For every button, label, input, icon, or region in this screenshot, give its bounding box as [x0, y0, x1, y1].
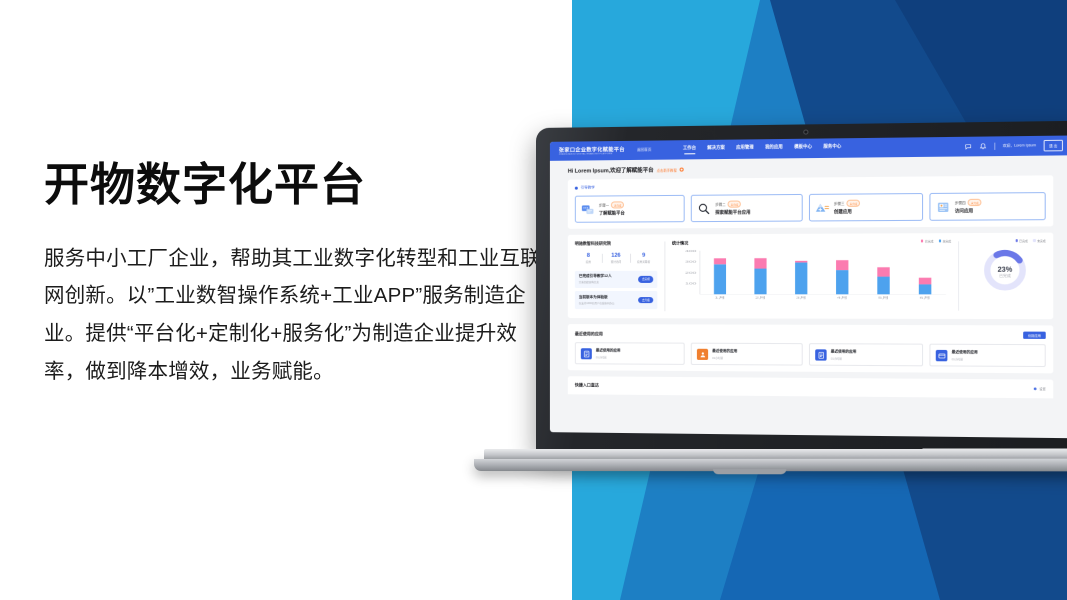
guide-step-text: 步骤二 未完成 探索赋能平台应用: [715, 200, 750, 216]
nav-divider: [995, 143, 996, 150]
guide-section-label: 引导教学: [581, 185, 595, 190]
app-card[interactable]: 最近使用的应用 01小时前: [691, 343, 803, 366]
svg-text:6月: 6月: [919, 296, 930, 299]
logo-title: 张家口企业数字化赋能平台: [559, 146, 625, 154]
guide-step-card[interactable]: 步骤一 未完成 了解赋能平台: [575, 195, 685, 223]
app-card[interactable]: 最近使用的应用 01小时前: [575, 343, 685, 366]
guide-step-name: 创建应用: [834, 209, 860, 215]
laptop-bezel: 张家口企业数字化赋能平台 ZHANGJIAKOU DIGITAL ENABLIN…: [550, 135, 1067, 438]
guide-step-name: 探索赋能平台应用: [715, 210, 750, 216]
app-card[interactable]: 最近使用的应用 01小时前: [929, 344, 1045, 367]
doc-blue-icon: [815, 349, 826, 360]
legend-swatch: [921, 240, 923, 242]
nav-item-app-management[interactable]: 应用管理: [736, 145, 754, 154]
guide-step-badge: 未完成: [847, 200, 861, 207]
legend-entry: 未完成: [939, 239, 951, 243]
dashboard-content: Hi Lorem Ipsum,欢迎了解赋能平台 点击新手教程 引导教学: [550, 155, 1067, 438]
bullet-icon: [575, 186, 578, 189]
legend-label: 已完成: [1019, 238, 1028, 242]
notice-text: 已完成引导教学12人 完善组织架构信息: [579, 274, 639, 285]
legend-entry: 已完成: [921, 239, 933, 243]
stat-value: 9: [630, 252, 657, 258]
stats-and-charts-row: 明驰数智科技研究院 8 应用 126 累计访问: [568, 232, 1053, 319]
chart-divider: [957, 241, 958, 311]
quick-entry-actions: 设置: [1033, 387, 1046, 391]
main-nav: 工作台 解决方案 应用管理 我的应用 模板中心 服务中心: [683, 144, 841, 154]
app-card-subtitle: 01小时前: [831, 356, 857, 360]
greeting-row: Hi Lorem Ipsum,欢迎了解赋能平台 点击新手教程: [568, 162, 1053, 175]
legend-label: 已完成: [925, 239, 934, 243]
guide-step-badge: 未完成: [728, 200, 742, 207]
guide-step-top: 步骤四 未完成: [955, 199, 982, 207]
nav-item-service-center[interactable]: 服务中心: [823, 144, 841, 153]
app-card-title: 最近使用的应用: [596, 348, 621, 353]
guide-step-text: 步骤四 未完成 访问应用: [955, 199, 982, 215]
guide-step-top: 步骤二 未完成: [715, 200, 750, 208]
guide-step-row: 步骤一 未完成 了解赋能平台: [575, 192, 1046, 223]
stat-value: 126: [602, 252, 629, 258]
notice-action-button[interactable]: 去完成: [639, 276, 654, 283]
guide-step-badge: 未完成: [611, 201, 624, 208]
guide-step-card[interactable]: 步骤二 未完成 探索赋能平台应用: [691, 194, 803, 222]
legend-swatch: [1033, 239, 1035, 241]
doc-blue-icon: [581, 348, 592, 359]
app-card-title: 最近使用的应用: [712, 349, 737, 354]
svg-text:已完成: 已完成: [999, 272, 1011, 277]
magnifier-icon: [697, 201, 711, 215]
guide-step-text: 步骤一 未完成 了解赋能平台: [599, 201, 625, 216]
guide-step-badge: 未完成: [968, 199, 982, 207]
recent-apps-panel: 最近使用的应用 创建应用 最近使: [568, 324, 1053, 374]
greeting-title: Hi Lorem Ipsum,欢迎了解赋能平台: [568, 166, 654, 175]
stat-value: 8: [575, 252, 602, 258]
guide-step-name: 访问应用: [955, 208, 982, 214]
bar-chart-legend: 已完成 未完成: [921, 239, 951, 243]
guide-panel-header: 引导教学: [575, 182, 1046, 191]
svg-text:200: 200: [685, 271, 697, 274]
guide-step-number: 步骤三: [834, 201, 845, 206]
legend-swatch: [939, 240, 941, 242]
message-icon[interactable]: [965, 143, 972, 150]
app-card[interactable]: 最近使用的应用 01小时前: [809, 344, 923, 367]
logo-subtitle: ZHANGJIAKOU DIGITAL ENABLING PLATFORM: [559, 153, 625, 156]
stat-item: 126 累计访问: [602, 252, 629, 263]
person-orange-icon: [697, 349, 708, 360]
legend-entry: 未完成: [1033, 238, 1046, 242]
notice-subtitle: 完善组织架构信息: [579, 280, 639, 284]
notice-row: 已完成引导教学12人 完善组织架构信息 去完成: [575, 270, 657, 288]
org-panel: 明驰数智科技研究院 8 应用 126 累计访问: [568, 234, 665, 319]
nav-item-workbench[interactable]: 工作台: [683, 145, 696, 154]
stat-label: 应用: [575, 259, 602, 263]
add-layers-icon: [815, 200, 830, 214]
create-app-button[interactable]: 创建应用: [1023, 331, 1046, 339]
card-blue-icon: [936, 350, 948, 361]
nav-right-group: 欢迎，Lorem Ipsum 退 出: [965, 140, 1063, 152]
guide-step-name: 了解赋能平台: [599, 211, 625, 217]
laptop-base-front: [474, 459, 1067, 472]
quick-entry-panel: 快捷入口直达 设置: [568, 376, 1053, 398]
app-card-title: 最近使用的应用: [952, 350, 978, 355]
nav-item-solutions[interactable]: 解决方案: [707, 145, 725, 154]
svg-text:100: 100: [685, 282, 697, 285]
stat-item: 9 应用关联者: [630, 252, 657, 263]
svg-text:400: 400: [685, 249, 697, 252]
donut-chart-box: 已完成 未完成 23%已完成: [964, 238, 1045, 313]
app-card-text: 最近使用的应用 01小时前: [831, 350, 857, 361]
org-stats: 8 应用 126 累计访问 9: [575, 252, 657, 263]
legend-entry: 已完成: [1015, 238, 1027, 242]
back-home-link[interactable]: 返回首页: [637, 148, 652, 153]
stat-label: 应用关联者: [630, 259, 657, 263]
bar-chart-title: 统计情况: [672, 240, 688, 246]
stat-item: 8 应用: [575, 252, 602, 263]
guide-step-top: 步骤一 未完成: [599, 201, 625, 208]
legend-label: 未完成: [943, 239, 952, 243]
document-card-icon: [936, 200, 951, 215]
svg-text:3月: 3月: [795, 296, 806, 299]
guide-step-card[interactable]: 步骤三 未完成 创建应用: [809, 193, 923, 221]
chat-screens-icon: [581, 202, 595, 216]
app-card-text: 最近使用的应用 01小时前: [712, 349, 737, 360]
legend-swatch: [1015, 239, 1017, 241]
gear-icon[interactable]: [1033, 387, 1037, 391]
laptop-mockup: 张家口企业数字化赋能平台 ZHANGJIAKOU DIGITAL ENABLIN…: [466, 128, 1067, 488]
app-card-text: 最近使用的应用 01小时前: [596, 348, 621, 359]
app-card-subtitle: 01小时前: [596, 355, 621, 359]
app-card-subtitle: 01小时前: [712, 355, 737, 359]
notice-action-button[interactable]: 去升级: [639, 297, 654, 304]
logout-button[interactable]: 退 出: [1043, 140, 1063, 151]
bar-chart-header: 统计情况 已完成 未完成: [672, 239, 951, 246]
svg-text:23%: 23%: [998, 266, 1013, 273]
notice-title: 已完成引导教学12人: [579, 274, 639, 279]
svg-text:1月: 1月: [714, 296, 725, 299]
svg-text:4月: 4月: [836, 296, 847, 299]
org-title: 明驰数智科技研究院: [575, 240, 657, 246]
close-icon[interactable]: [680, 168, 684, 172]
svg-text:2月: 2月: [755, 296, 766, 299]
guide-step-text: 步骤三 未完成 创建应用: [834, 200, 860, 216]
app-card-subtitle: 01小时前: [952, 357, 978, 361]
bar-chart-plot: 1002003004001月2月3月4月5月6月: [672, 247, 951, 301]
notice-title: 当前版本为体验版: [579, 295, 639, 300]
legend-label: 未完成: [1037, 238, 1046, 242]
notice-row: 当前版本为体验版 仅支持1000名用户在线协同办公 去升级: [575, 291, 657, 309]
bar-chart-box: 统计情况 已完成 未完成: [672, 239, 951, 313]
laptop-base: [466, 449, 1067, 475]
charts-panel: 统计情况 已完成 未完成: [665, 232, 1053, 319]
guide-step-number: 步骤一: [599, 202, 609, 207]
laptop-lid: 张家口企业数字化赋能平台 ZHANGJIAKOU DIGITAL ENABLIN…: [536, 121, 1067, 461]
svg-text:5月: 5月: [878, 296, 889, 299]
site-logo[interactable]: 张家口企业数字化赋能平台 ZHANGJIAKOU DIGITAL ENABLIN…: [559, 146, 625, 156]
nav-item-my-apps[interactable]: 我的应用: [765, 144, 783, 153]
app-card-title: 最近使用的应用: [831, 350, 857, 355]
settings-label: 设置: [1039, 387, 1045, 391]
bell-icon[interactable]: [980, 143, 987, 150]
donut-chart-plot: 23%已完成: [980, 246, 1029, 294]
guide-step-number: 步骤四: [955, 200, 966, 205]
guide-step-card[interactable]: 步骤四 未完成 访问应用: [929, 192, 1045, 221]
notice-text: 当前版本为体验版 仅支持1000名用户在线协同办公: [579, 295, 639, 305]
recent-apps-title: 最近使用的应用: [575, 331, 603, 337]
laptop-notch: [712, 469, 785, 474]
tutorial-link[interactable]: 点击新手教程: [657, 167, 677, 172]
stat-label: 累计访问: [602, 259, 629, 263]
guide-panel: 引导教学: [568, 175, 1053, 229]
guide-step-top: 步骤三 未完成: [834, 200, 860, 208]
svg-text:300: 300: [685, 260, 697, 263]
donut-chart-legend: 已完成 未完成: [964, 238, 1045, 242]
recent-apps-header: 最近使用的应用 创建应用: [575, 330, 1046, 339]
notice-subtitle: 仅支持1000名用户在线协同办公: [579, 301, 639, 305]
dashboard-screen: 张家口企业数字化赋能平台 ZHANGJIAKOU DIGITAL ENABLIN…: [550, 135, 1067, 438]
recent-apps-row: 最近使用的应用 01小时前: [575, 343, 1046, 368]
webcam-icon: [803, 129, 808, 134]
nav-item-template-center[interactable]: 模板中心: [794, 144, 812, 153]
guide-step-number: 步骤二: [715, 202, 725, 207]
quick-entry-title: 快捷入口直达: [575, 382, 599, 388]
welcome-text: 欢迎，Lorem Ipsum: [1003, 143, 1036, 149]
app-card-text: 最近使用的应用 01小时前: [952, 350, 978, 361]
